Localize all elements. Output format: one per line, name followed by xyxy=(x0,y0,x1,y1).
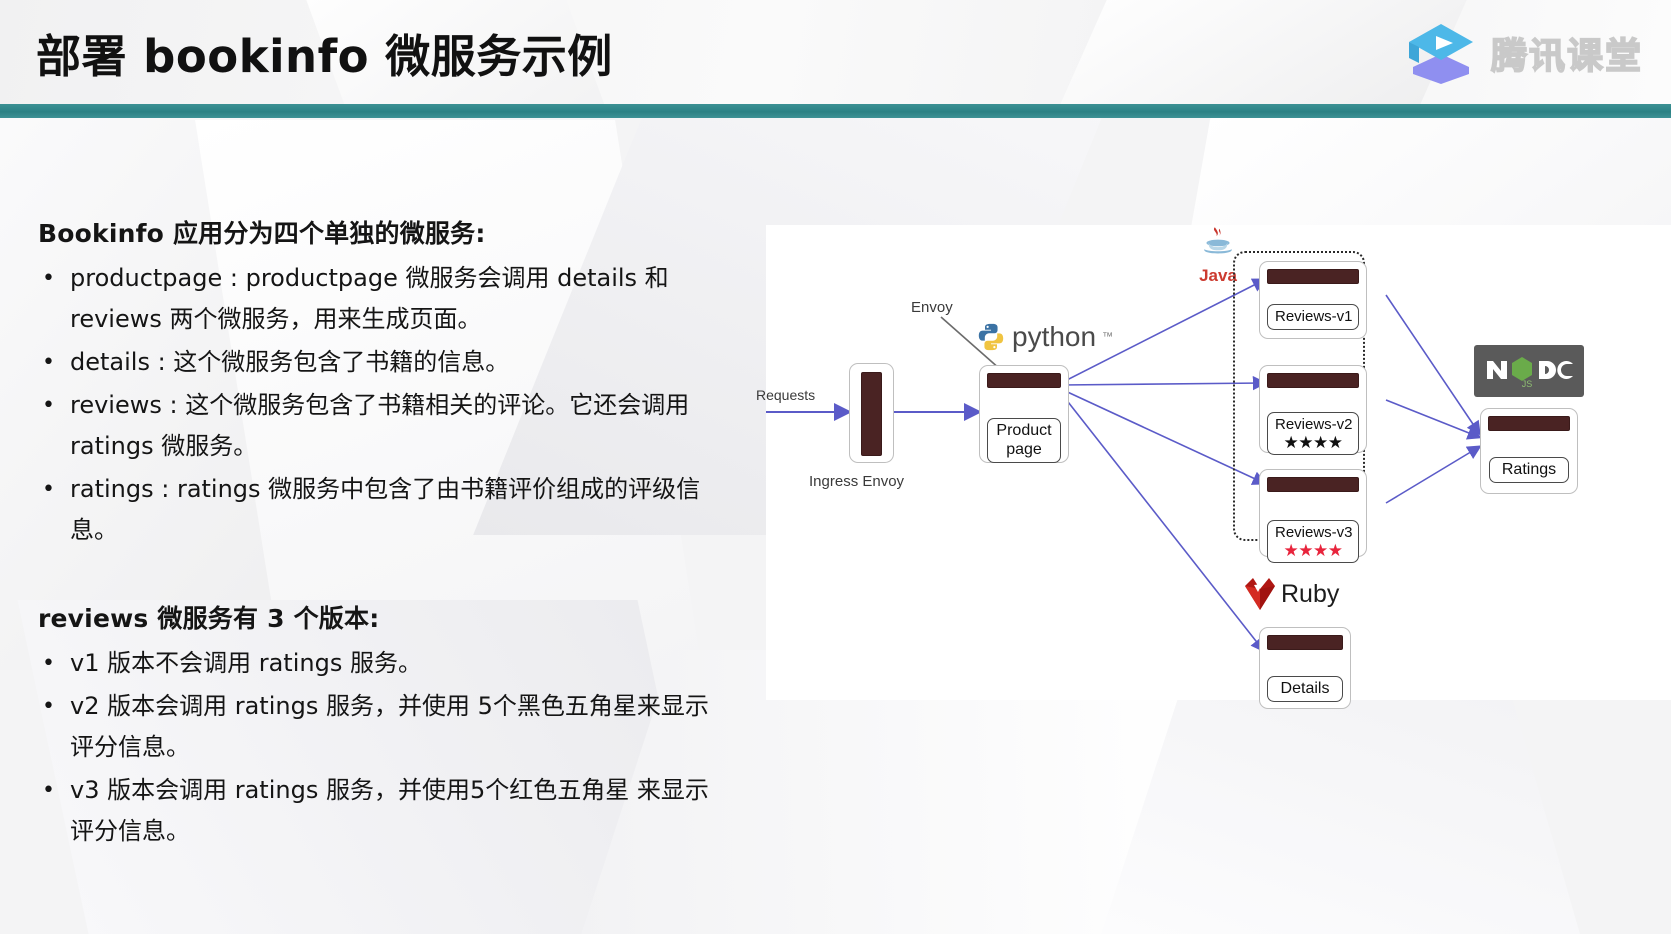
reviews-v3-service-box: Reviews-v3 ★★★★ xyxy=(1259,469,1367,557)
brand-logo: 腾讯课堂 xyxy=(1403,22,1643,84)
list-item: v1 版本不会调用 ratings 服务。 xyxy=(38,643,728,684)
svg-text:JS: JS xyxy=(1522,379,1533,389)
section-heading-versions: reviews 微服务有 3 个版本: xyxy=(38,599,770,635)
productpage-app-box: Product page xyxy=(987,418,1061,463)
envoy-proxy-bar xyxy=(1267,269,1359,284)
header-divider xyxy=(0,104,1671,118)
python-icon xyxy=(976,322,1006,352)
requests-label: Requests xyxy=(756,387,815,403)
bullet-list-versions: v1 版本不会调用 ratings 服务。 v2 版本会调用 ratings 服… xyxy=(38,643,770,852)
ruby-label: Ruby xyxy=(1281,580,1339,609)
python-logo: python ™ xyxy=(976,321,1113,353)
productpage-label-line1: Product xyxy=(995,421,1053,440)
graduation-cap-play-icon xyxy=(1403,22,1479,84)
reviews-v1-service-box: Reviews-v1 xyxy=(1259,261,1367,339)
list-item: v3 版本会调用 ratings 服务，并使用5个红色五角星 来显示评分信息。 xyxy=(38,770,728,852)
details-label: Details xyxy=(1275,679,1335,698)
nodejs-icon: JS xyxy=(1481,351,1577,391)
reviews-v1-app-box: Reviews-v1 xyxy=(1267,304,1359,330)
details-service-box: Details xyxy=(1259,627,1351,709)
list-item: details : 这个微服务包含了书籍的信息。 xyxy=(38,342,728,383)
list-item: v2 版本会调用 ratings 服务，并使用 5个黑色五角星来显示评分信息。 xyxy=(38,686,728,768)
trademark-mark: ™ xyxy=(1102,331,1113,343)
python-label: python xyxy=(1012,321,1096,353)
envoy-proxy-bar xyxy=(987,373,1061,388)
envoy-proxy-bar xyxy=(1267,635,1343,650)
section-spacer xyxy=(38,553,770,599)
ratings-label: Ratings xyxy=(1497,460,1561,479)
reviews-v2-service-box: Reviews-v2 ★★★★ xyxy=(1259,365,1367,453)
bullet-list-services: productpage : productpage 微服务会调用 details… xyxy=(38,258,770,551)
ingress-envoy-box xyxy=(849,363,894,463)
reviews-v3-stars: ★★★★ xyxy=(1275,542,1351,559)
reviews-v3-app-box: Reviews-v3 ★★★★ xyxy=(1267,520,1359,563)
ruby-icon xyxy=(1241,577,1277,611)
ruby-logo: Ruby xyxy=(1241,577,1339,611)
details-app-box: Details xyxy=(1267,676,1343,702)
envoy-proxy-bar xyxy=(861,372,882,456)
list-item: productpage : productpage 微服务会调用 details… xyxy=(38,258,728,340)
page-title: 部署 bookinfo 微服务示例 xyxy=(36,20,613,85)
envoy-proxy-bar xyxy=(1488,416,1570,431)
reviews-v1-label: Reviews-v1 xyxy=(1275,307,1351,326)
reviews-v2-app-box: Reviews-v2 ★★★★ xyxy=(1267,412,1359,455)
section-heading-services: Bookinfo 应用分为四个单独的微服务: xyxy=(38,214,770,250)
reviews-v2-label: Reviews-v2 xyxy=(1275,415,1351,434)
nodejs-logo: JS xyxy=(1474,345,1584,397)
bookinfo-architecture-diagram: Requests Envoy Ingress Envoy python ™ Pr… xyxy=(766,225,1671,700)
list-item: reviews : 这个微服务包含了书籍相关的评论。它还会调用 ratings … xyxy=(38,385,728,467)
envoy-proxy-bar xyxy=(1267,477,1359,492)
productpage-service-box: Product page xyxy=(979,365,1069,463)
ingress-envoy-label: Ingress Envoy xyxy=(809,473,904,490)
list-item: ratings : ratings 微服务中包含了由书籍评价组成的评级信息。 xyxy=(38,469,728,551)
reviews-v3-label: Reviews-v3 xyxy=(1275,523,1351,542)
slide-content: Bookinfo 应用分为四个单独的微服务: productpage : pro… xyxy=(0,118,770,934)
reviews-v2-stars: ★★★★ xyxy=(1275,434,1351,451)
ratings-service-box: Ratings xyxy=(1480,408,1578,494)
productpage-label-line2: page xyxy=(995,440,1053,459)
brand-name: 腾讯课堂 xyxy=(1491,27,1643,79)
envoy-callout-label: Envoy xyxy=(911,299,953,316)
ratings-app-box: Ratings xyxy=(1489,457,1569,483)
envoy-proxy-bar xyxy=(1267,373,1359,388)
